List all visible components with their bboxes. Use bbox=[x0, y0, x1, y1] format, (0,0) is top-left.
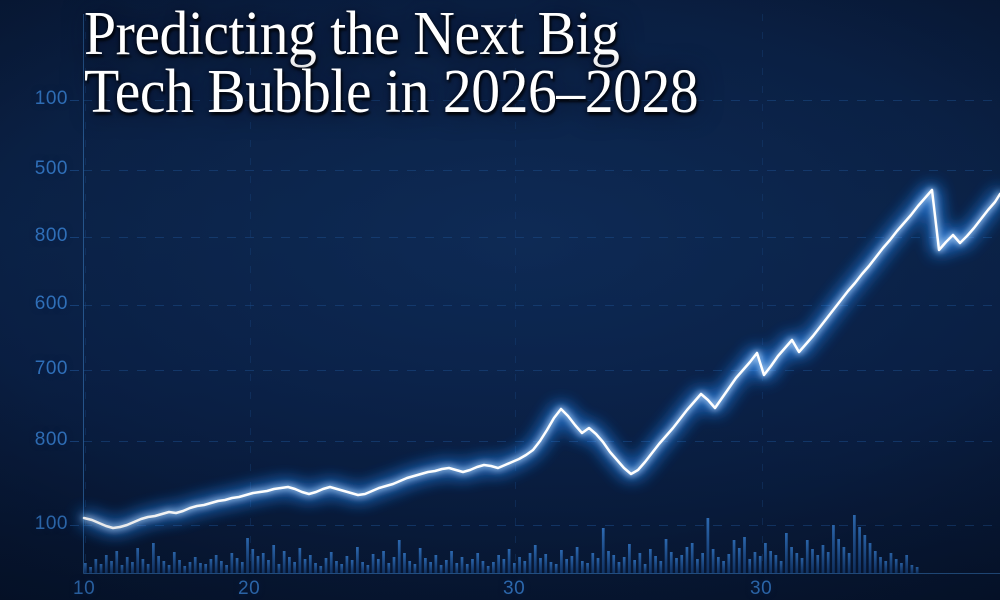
chart-canvas: 100500800600700800100 10203030 Predictin… bbox=[0, 0, 1000, 600]
page-title: Predicting the Next Big Tech Bubble in 2… bbox=[84, 6, 828, 121]
x-axis-tick-label: 30 bbox=[750, 578, 772, 600]
title-line-1: Predicting the Next Big bbox=[84, 6, 828, 64]
x-axis-tick-label: 10 bbox=[73, 578, 95, 600]
x-axis-tick-label: 30 bbox=[503, 578, 525, 600]
title-line-2: Tech Bubble in 2026–2028 bbox=[84, 64, 828, 122]
x-axis-tick-label: 20 bbox=[238, 578, 260, 600]
